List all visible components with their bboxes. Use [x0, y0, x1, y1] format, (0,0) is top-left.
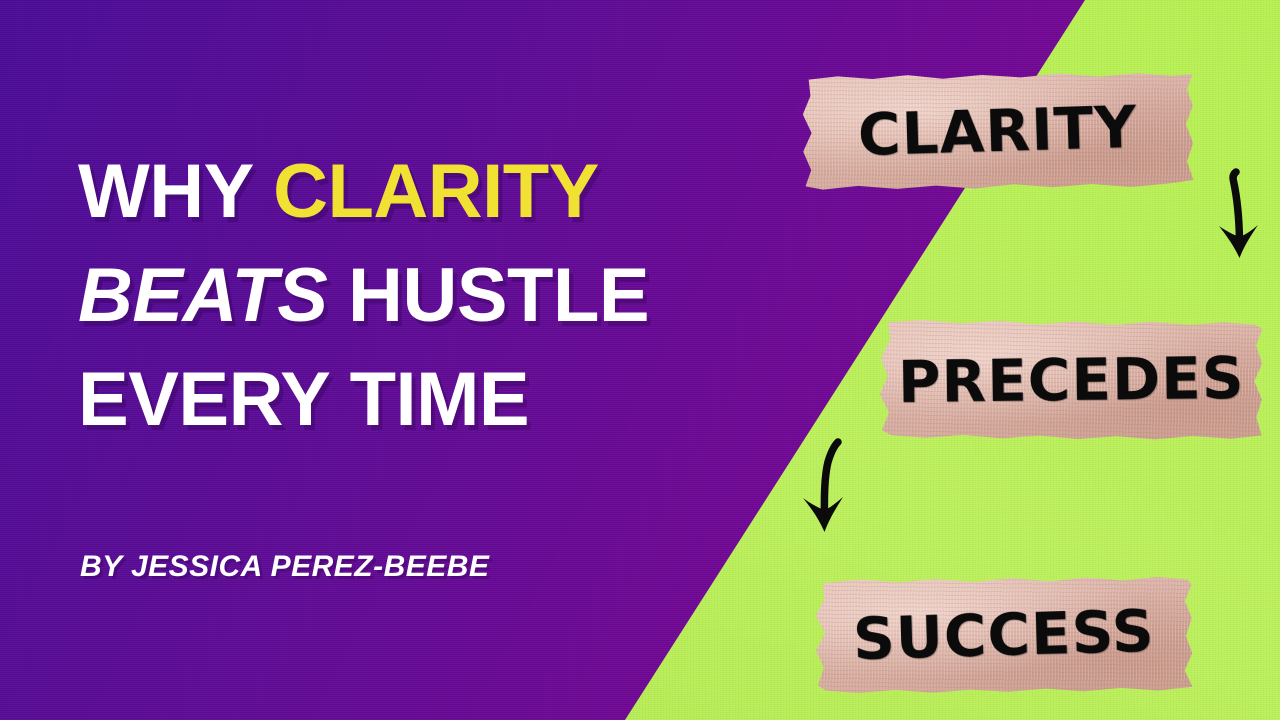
author-byline: BY JESSICA PEREZ-BEEBE	[80, 550, 489, 584]
slide-canvas: WHY CLARITY BEATS HUSTLE EVERY TIME BY J…	[0, 0, 1280, 720]
flow-step-clarity: CLARITY	[802, 71, 1193, 191]
headline-line-2: BEATS HUSTLE	[78, 244, 778, 348]
flow-step-precedes-label: PRECEDES	[897, 344, 1244, 416]
flow-step-clarity-label: CLARITY	[857, 93, 1138, 169]
down-arrow-icon	[793, 438, 865, 538]
headline-line-2-rest: HUSTLE	[327, 253, 649, 338]
headline-line-1: WHY CLARITY	[78, 140, 778, 244]
headline-line-3: EVERY TIME	[78, 348, 778, 452]
flow-step-success-label: SUCCESS	[852, 597, 1155, 673]
down-arrow-icon	[1203, 168, 1275, 264]
page-title: WHY CLARITY BEATS HUSTLE EVERY TIME	[78, 140, 778, 452]
headline-line-1-prefix: WHY	[78, 149, 273, 234]
flow-step-success: SUCCESS	[816, 575, 1193, 694]
headline-accent-word: CLARITY	[273, 149, 599, 234]
headline-italic-word: BEATS	[78, 253, 327, 338]
flow-step-precedes: PRECEDES	[880, 319, 1263, 442]
